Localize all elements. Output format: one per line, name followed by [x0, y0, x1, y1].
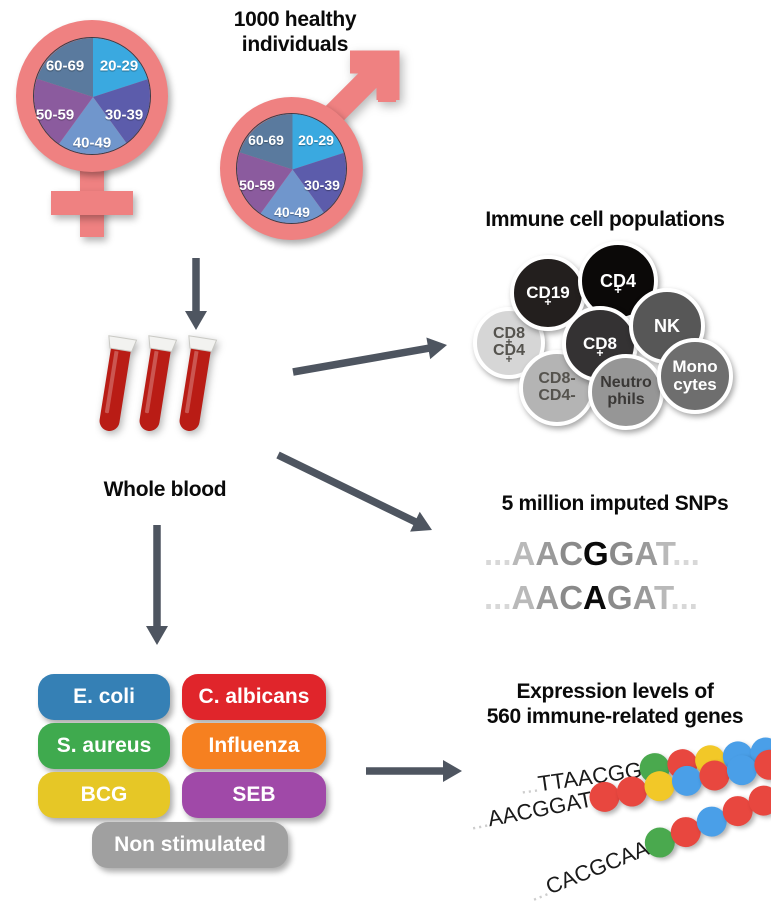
expression-strands: ...TTAACGG...AACGGAT...CACGCAA — [0, 0, 771, 922]
figure-canvas: 1000 healthy individuals 20-29 30-39 40-… — [0, 0, 771, 922]
strand-sequence-text: ...CACGCAA — [525, 835, 653, 907]
